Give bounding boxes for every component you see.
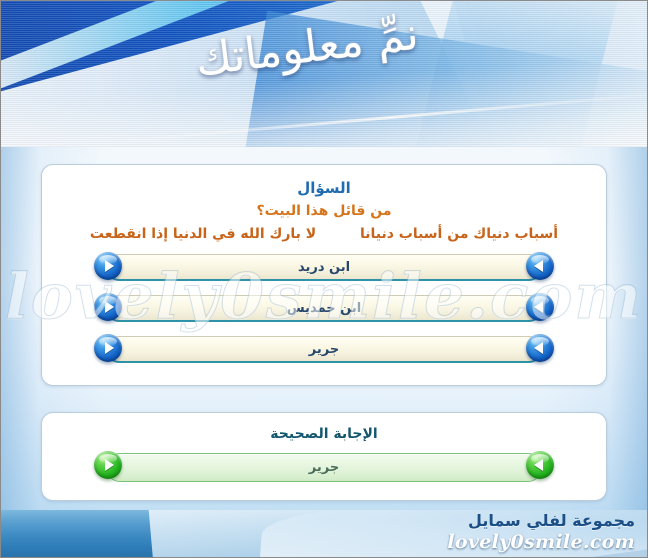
- play-right-arrow-icon[interactable]: [94, 451, 122, 479]
- answer-panel: الإجابة الصحيحة جرير: [41, 412, 607, 501]
- banner-title: نمِّ معلوماتك: [192, 2, 422, 95]
- triangle-left-glyph: [534, 342, 543, 354]
- question-panel: السؤال من قائل هذا البيت؟ أسباب دنياك من…: [41, 164, 607, 386]
- banner-shape-right-panel: [401, 1, 629, 147]
- banner-shape-white-arc: [92, 90, 647, 145]
- option-bar[interactable]: جرير: [106, 336, 542, 363]
- quiz-screen: نمِّ معلوماتك lovely0smile.com السؤال من…: [0, 0, 648, 558]
- option-bar[interactable]: ابن حمديس: [106, 295, 542, 322]
- verse-first-hemistich: أسباب دنياك من أسباب دنيانا: [360, 226, 558, 242]
- option-bar[interactable]: ابن دريد: [106, 254, 542, 281]
- question-verse: أسباب دنياك من أسباب دنيانا لا بارك الله…: [66, 226, 582, 242]
- footer-arabic-credit: مجموعة لفلي سمايل: [468, 511, 635, 530]
- triangle-right-glyph: [105, 301, 114, 313]
- footer-website-url[interactable]: lovely0smile.com: [447, 531, 635, 553]
- triangle-right-glyph: [105, 459, 114, 471]
- answer-bar: جرير: [106, 453, 542, 482]
- banner-shape-right-white: [415, 1, 647, 147]
- option-label: ابن حمديس: [287, 301, 361, 316]
- play-left-arrow-icon[interactable]: [526, 252, 554, 280]
- content-area: السؤال من قائل هذا البيت؟ أسباب دنياك من…: [1, 164, 647, 501]
- triangle-left-glyph: [534, 459, 543, 471]
- play-left-arrow-icon[interactable]: [526, 334, 554, 362]
- answer-value: جرير: [309, 460, 339, 475]
- verse-second-hemistich: لا بارك الله في الدنيا إذا انقطعت: [90, 226, 316, 242]
- option-list: ابن دريد ابن حمديس: [66, 254, 582, 363]
- header-banner: نمِّ معلوماتك: [1, 1, 647, 147]
- play-right-arrow-icon[interactable]: [94, 334, 122, 362]
- play-left-arrow-icon[interactable]: [526, 293, 554, 321]
- play-right-arrow-icon[interactable]: [94, 293, 122, 321]
- triangle-right-glyph: [105, 260, 114, 272]
- play-left-arrow-icon[interactable]: [526, 451, 554, 479]
- answer-row: جرير: [94, 453, 554, 482]
- triangle-left-glyph: [534, 301, 543, 313]
- triangle-left-glyph: [534, 260, 543, 272]
- option-row[interactable]: ابن دريد: [94, 254, 554, 281]
- triangle-right-glyph: [105, 342, 114, 354]
- option-label: ابن دريد: [298, 260, 350, 275]
- answer-label: الإجابة الصحيحة: [66, 426, 582, 442]
- option-label: جرير: [309, 342, 339, 357]
- question-text: من قائل هذا البيت؟: [66, 203, 582, 219]
- option-row[interactable]: ابن حمديس: [94, 295, 554, 322]
- footer-bar: مجموعة لفلي سمايل lovely0smile.com: [1, 510, 647, 557]
- question-label: السؤال: [66, 179, 582, 197]
- play-right-arrow-icon[interactable]: [94, 252, 122, 280]
- option-row[interactable]: جرير: [94, 336, 554, 363]
